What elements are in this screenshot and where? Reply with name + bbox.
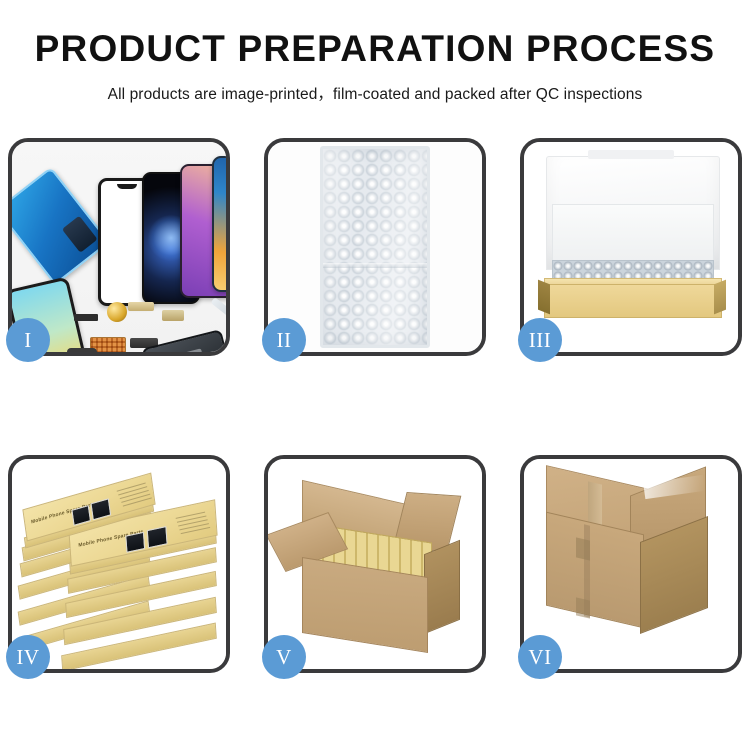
step-5-image — [268, 459, 482, 669]
step-badge-6: VI — [518, 635, 562, 679]
black-bar-part — [74, 314, 98, 321]
box-screen-image-1b — [91, 498, 112, 520]
header: PRODUCT PREPARATION PROCESS All products… — [0, 0, 750, 104]
process-steps-grid: I II III — [8, 138, 742, 673]
box-spec-line — [123, 497, 152, 506]
phone-screen-orange — [212, 156, 226, 292]
page-title: PRODUCT PREPARATION PROCESS — [0, 30, 750, 69]
step-4-image: Mobile Phone Spare Parts Mobile Phone Sp… — [12, 459, 226, 669]
step-badge-2: II — [262, 318, 306, 362]
step-badge-5: V — [262, 635, 306, 679]
step-card-3: III — [520, 138, 742, 356]
inner-box-front-panel — [544, 284, 722, 318]
step-card-4: Mobile Phone Spare Parts Mobile Phone Sp… — [8, 455, 230, 673]
gold-coil-part — [107, 302, 127, 322]
step-card-1: I — [8, 138, 230, 356]
infographic-page: PRODUCT PREPARATION PROCESS All products… — [0, 0, 750, 750]
step-badge-3: III — [518, 318, 562, 362]
bubble-wrap-pouch — [320, 146, 430, 348]
box-stack: Mobile Phone Spare Parts Mobile Phone Sp… — [16, 467, 222, 663]
inner-box-lid-tab — [588, 150, 674, 159]
step-card-5: V — [264, 455, 486, 673]
inner-box-right-end — [714, 280, 726, 315]
screwdriver-tool — [211, 297, 226, 330]
step-badge-1: I — [6, 318, 50, 362]
step-6-image — [524, 459, 738, 669]
step-2-image — [268, 142, 482, 352]
page-subtitle: All products are image-printed，film-coat… — [0, 82, 750, 104]
flex-cable-part-a — [128, 302, 154, 311]
step-card-6: VI — [520, 455, 742, 673]
step-1-image — [12, 142, 226, 352]
inner-box-left-end — [538, 280, 550, 315]
box-screen-image-1a — [71, 505, 91, 526]
sealed-carton-tab-top — [576, 537, 590, 560]
step-3-image — [524, 142, 738, 352]
inner-box-foam-sheet — [552, 204, 714, 264]
flex-cable-part-b — [162, 310, 184, 321]
bubble-wrap-sheen — [323, 149, 427, 345]
sealed-carton-tab-bottom — [576, 597, 590, 618]
step-card-2: II — [264, 138, 486, 356]
phone-screen-blue-tilted — [12, 167, 110, 286]
flex-cable-part-d — [67, 348, 97, 352]
box-screen-image-2b — [147, 526, 168, 548]
bubble-wrap-seam — [323, 263, 427, 268]
step-badge-4: IV — [6, 635, 50, 679]
box-screen-image-2a — [125, 532, 145, 553]
carton-right-panel — [424, 540, 460, 635]
